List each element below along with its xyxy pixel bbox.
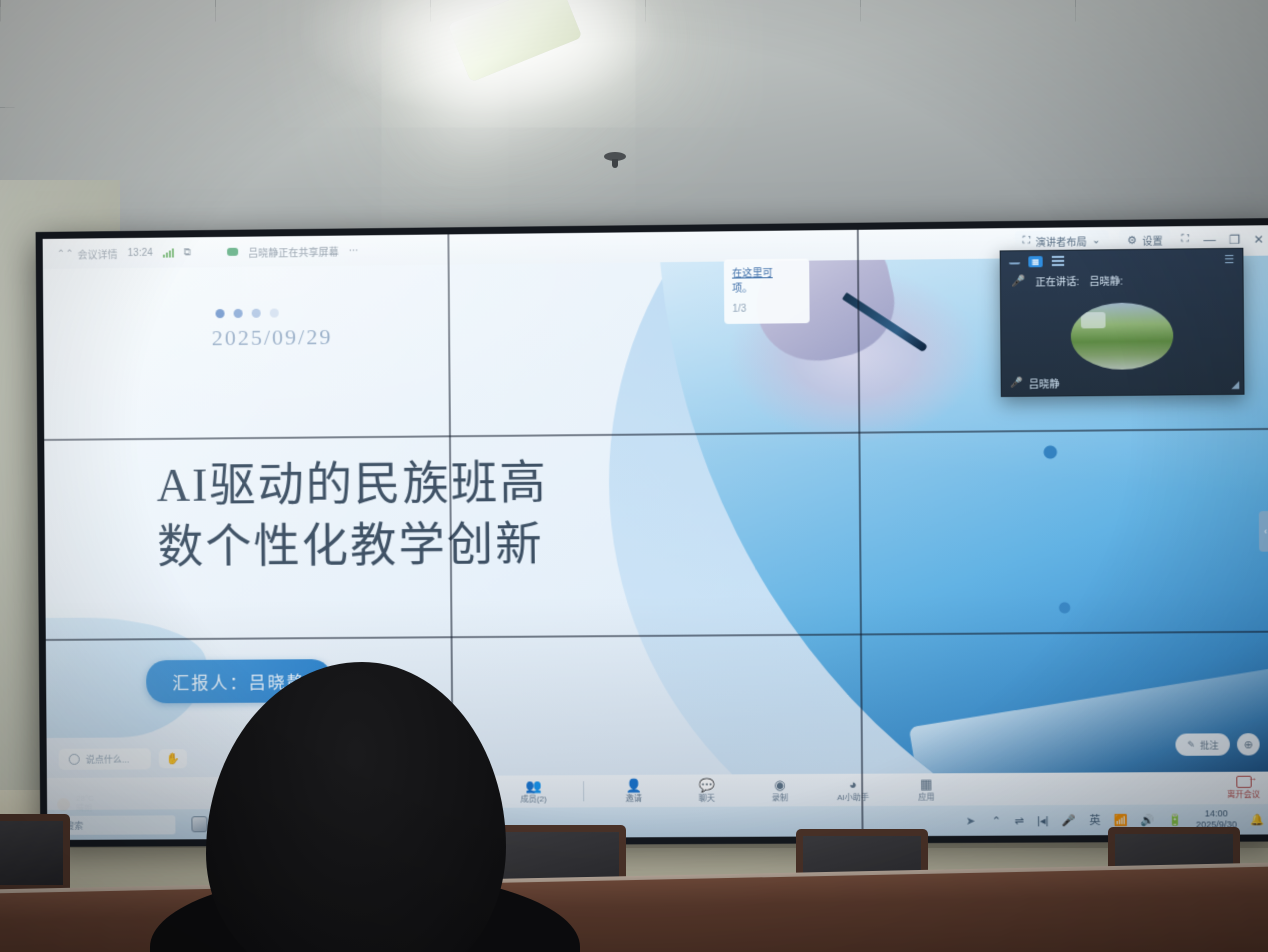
chat-composer[interactable]: 说点什么... ✋ xyxy=(59,748,187,770)
conference-room-photo: ⌃⌃ 会议详情 13:24 ⧉ 吕晓静正在共享屏幕 ⋯ xyxy=(0,0,1268,952)
fire-sprinkler-head-icon xyxy=(604,152,626,161)
raise-hand-icon[interactable]: ✋ xyxy=(159,749,187,768)
fullscreen-icon[interactable]: ⛶ xyxy=(1181,233,1189,246)
toolbar-button-chat-bubble[interactable]: 💬聊天 xyxy=(683,778,730,803)
slide-decorative-dots xyxy=(215,308,278,318)
laptop-shape xyxy=(909,659,1268,778)
ai-assistant-icon: ◕ xyxy=(849,777,857,790)
chair xyxy=(0,814,70,892)
add-person-icon: 👤 xyxy=(625,778,642,791)
chevron-left-icon: ‹ xyxy=(1264,526,1267,536)
signal-bars-icon xyxy=(163,248,174,257)
meeting-logo-icon: ⌃⌃ xyxy=(57,248,74,259)
toolbar-separator xyxy=(583,781,584,801)
speaking-indicator: 🎤 正在讲话: 吕晓静: xyxy=(1001,269,1243,291)
slide-title-line-1: AI驱动的民族班高 xyxy=(156,451,721,517)
meeting-application: ⌃⌃ 会议详情 13:24 ⧉ 吕晓静正在共享屏幕 ⋯ xyxy=(43,225,1268,840)
toolbar-button-label: 成员(2) xyxy=(521,793,547,804)
volume-icon[interactable]: 🔊 xyxy=(1141,813,1155,826)
gallery-view-icon[interactable]: ▦ xyxy=(1028,256,1042,267)
tooltip-line-2: 项。 xyxy=(732,281,801,296)
chevron-down-icon: ⌄ xyxy=(1092,235,1101,246)
toolbar-button-apps-grid[interactable]: ▦应用 xyxy=(903,777,950,802)
microphone-muted-icon: 🎤 xyxy=(1010,378,1023,389)
tooltip-line-1: 在这里可 xyxy=(732,268,773,280)
toolbar-button-record[interactable]: ◉录制 xyxy=(756,778,803,803)
leave-meeting-button[interactable]: 离开会议 xyxy=(1227,776,1260,800)
microphone-icon[interactable]: 🎤 xyxy=(1062,814,1076,827)
settings-label: 设置 xyxy=(1142,232,1163,247)
speaking-name: 吕晓静: xyxy=(1089,272,1123,288)
record-icon: ◉ xyxy=(774,778,786,791)
exit-door-icon xyxy=(1236,776,1251,788)
toolbar-button-ai-assistant[interactable]: ◕AI小助手 xyxy=(830,777,877,802)
participant-name-label: 吕晓静 xyxy=(1029,375,1060,390)
battery-icon[interactable]: 🔋 xyxy=(1168,813,1182,826)
layout-icon: ⛶ xyxy=(1023,235,1031,248)
ime-english-icon[interactable]: 英 xyxy=(1089,812,1100,828)
list-view-icon[interactable] xyxy=(1051,255,1065,266)
chat-placeholder: 说点什么... xyxy=(86,753,130,766)
clock-time: 14:00 xyxy=(1196,808,1237,819)
microphone-icon: 🎤 xyxy=(1011,274,1025,287)
toolbar-button-label: AI小助手 xyxy=(837,791,869,802)
taskbar-app-file-explorer[interactable] xyxy=(191,816,207,832)
minimize-icon[interactable]: — xyxy=(1203,232,1215,246)
zoom-in-icon[interactable]: ⊕ xyxy=(1237,733,1260,755)
audio-device-icon[interactable]: |◂| xyxy=(1037,814,1049,827)
taskbar-search-input[interactable]: 搜索 xyxy=(57,815,175,835)
speaker-layout-label: 演讲者布局 xyxy=(1035,233,1086,249)
chevron-up-icon[interactable]: ⌃ xyxy=(992,814,1002,827)
video-wall-display: ⌃⌃ 会议详情 13:24 ⧉ 吕晓静正在共享屏幕 ⋯ xyxy=(36,218,1268,847)
popout-icon[interactable]: ⧉ xyxy=(184,247,191,258)
floating-video-window[interactable]: ▦ ☰ 🎤 正在讲话: 吕晓静: 🎤 吕晓静 ◢ xyxy=(1000,248,1245,397)
meeting-details-button[interactable]: ⌃⌃ 会议详情 xyxy=(57,246,118,262)
people-icon: 👥 xyxy=(525,779,541,792)
notification-bell-icon[interactable]: 🔔 xyxy=(1250,813,1264,826)
annotation-controls: ✎ 批注 ⊕ xyxy=(1176,733,1260,756)
participant-video-thumbnail xyxy=(1071,302,1174,370)
screen-share-icon xyxy=(227,248,238,256)
meeting-details-label: 会议详情 xyxy=(77,246,117,261)
wifi-icon[interactable]: 📶 xyxy=(1114,813,1128,826)
meeting-elapsed-time: 13:24 xyxy=(128,247,153,258)
more-options-icon[interactable]: ⋯ xyxy=(349,245,359,256)
screen-surface: ⌃⌃ 会议详情 13:24 ⧉ 吕晓静正在共享屏幕 ⋯ xyxy=(43,225,1268,840)
toolbar-button-label: 聊天 xyxy=(699,792,715,803)
slide-date: 2025/09/29 xyxy=(212,324,333,351)
close-icon[interactable]: ✕ xyxy=(1253,232,1263,246)
menu-icon[interactable]: ☰ xyxy=(1224,252,1234,265)
mouse-cursor-icon: ➤ xyxy=(966,814,976,827)
toolbar-button-label: 录制 xyxy=(772,792,788,803)
sharing-notice-label: 吕晓静正在共享屏幕 xyxy=(248,243,339,259)
annotate-label: 批注 xyxy=(1200,738,1219,751)
pencil-icon: ✎ xyxy=(1187,739,1195,750)
smiley-icon[interactable] xyxy=(69,754,80,765)
chat-input-field[interactable]: 说点什么... xyxy=(59,748,151,770)
minimize-icon[interactable] xyxy=(1009,258,1020,264)
toolbar-button-add-person[interactable]: 👤邀请 xyxy=(610,778,657,803)
settings-sliders-icon[interactable]: ⇌ xyxy=(1014,814,1024,827)
slide-title-line-2: 数个性化教学创新 xyxy=(157,512,722,577)
participant-name-tag: 🎤 吕晓静 xyxy=(1010,375,1060,391)
annotate-button[interactable]: ✎ 批注 xyxy=(1176,733,1230,756)
toolbar-button-label: 邀请 xyxy=(626,792,642,803)
toolbar-button-label: 应用 xyxy=(918,791,934,802)
onboarding-tooltip: 在这里可 项。 1/3 xyxy=(724,259,810,324)
video-window-toolbar: ▦ ☰ xyxy=(1001,249,1243,272)
resize-handle-icon[interactable]: ◢ xyxy=(1231,380,1239,391)
toolbar-button-people[interactable]: 👥成员(2) xyxy=(510,779,557,804)
window-buttons: — ❐ ✕ xyxy=(1203,232,1263,247)
panel-collapse-handle[interactable]: ‹ xyxy=(1259,511,1268,552)
tooltip-page-indicator: 1/3 xyxy=(732,302,801,317)
maximize-icon[interactable]: ❐ xyxy=(1229,232,1240,246)
speaking-label: 正在讲话: xyxy=(1035,273,1079,289)
gear-icon: ⚙ xyxy=(1127,234,1137,247)
chat-bubble-icon: 💬 xyxy=(698,778,715,791)
leave-meeting-label: 离开会议 xyxy=(1227,789,1260,800)
apps-grid-icon: ▦ xyxy=(920,777,933,790)
slide-title: AI驱动的民族班高 数个性化教学创新 xyxy=(156,451,722,578)
